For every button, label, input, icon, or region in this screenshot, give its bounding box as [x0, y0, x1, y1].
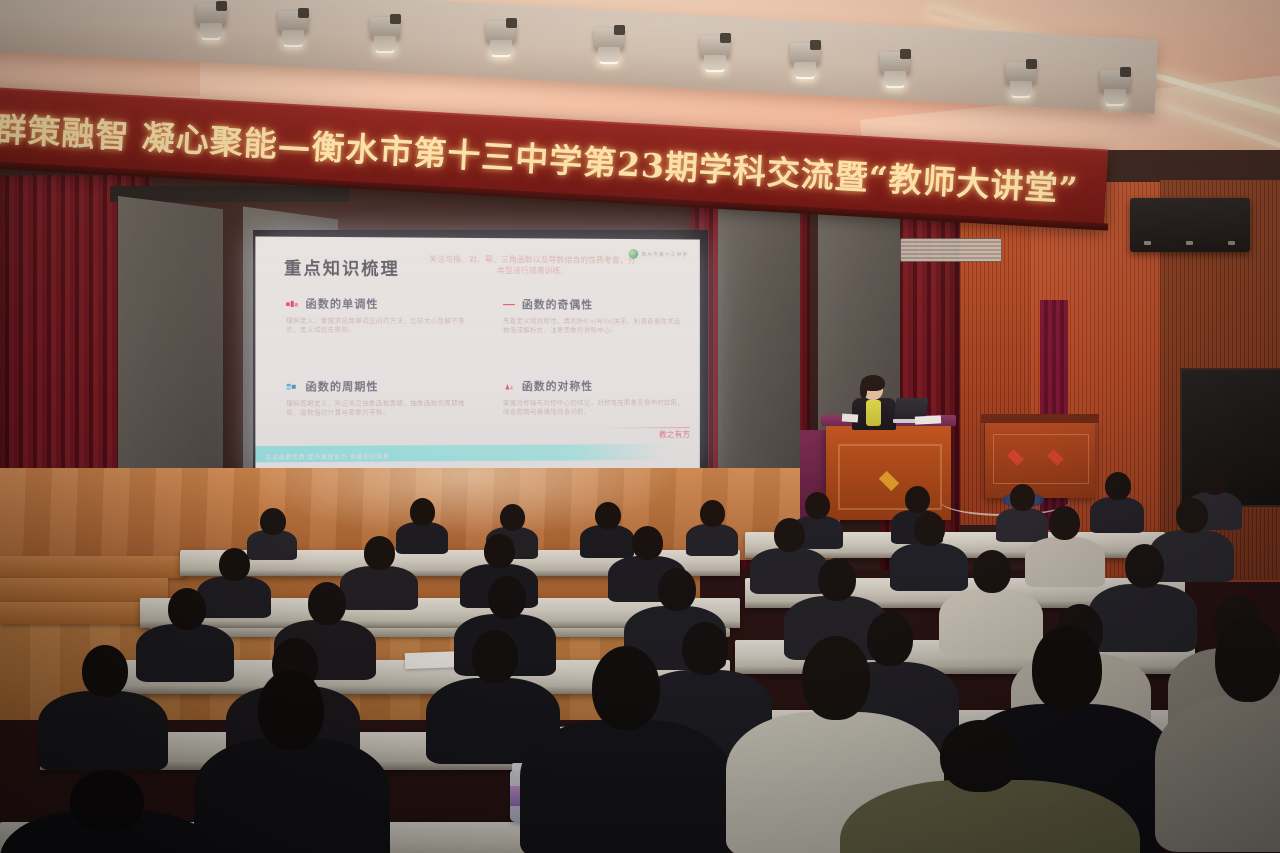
school-logo-text: 衡水市第十三中学	[641, 250, 688, 257]
audience-member-foreground	[1185, 616, 1280, 816]
lecture-hall-photo: 群策融智 凝心聚能—衡水市第十三中学第23期学科交流暨“教师大讲堂” 重点知识梳…	[0, 0, 1280, 853]
audience-member-foreground	[230, 670, 350, 840]
audience-member-foreground	[560, 646, 690, 830]
section-heading: 函数的单调性	[305, 295, 378, 311]
podium-papers	[915, 415, 941, 424]
audience-member	[1035, 506, 1093, 574]
monotonicity-bullet-icon	[286, 299, 299, 308]
section-heading: 函数的周期性	[305, 378, 378, 394]
audience-member	[690, 500, 734, 552]
presentation-slide: 重点知识梳理 关注与指、对、幂、三角函数以及导数结合的性质考查，分类型进行提高训…	[255, 236, 699, 474]
audience-member	[60, 645, 146, 755]
audience-member	[450, 630, 536, 744]
section-heading: 函数的奇偶性	[522, 296, 593, 312]
section-heading: 函数的对称性	[522, 378, 593, 394]
parity-bullet-icon	[503, 300, 516, 309]
stage-spotlight-icon	[594, 28, 624, 50]
audience-area	[0, 470, 1280, 853]
stage-spotlight-icon	[370, 17, 400, 39]
section-body: 理解周期定义，熟记常见抽象函数周期，抽象函数的周期推导、函数值的计算与图象的平移…	[286, 399, 473, 418]
audience-member	[1095, 472, 1139, 528]
periodicity-bullet-icon	[286, 382, 299, 391]
school-logo: 衡水市第十三中学	[628, 249, 688, 259]
stage-spotlight-icon	[700, 36, 730, 58]
slide-title: 重点知识梳理	[284, 254, 400, 280]
stage-spotlight-icon	[790, 43, 820, 65]
section-body: 先看定义域对称性，再判断f(-x)与f(x)关系，利用奇偶性求函数值或解析式，注…	[503, 317, 685, 335]
podium-papers	[842, 413, 859, 422]
stage-spotlight-icon	[278, 11, 308, 33]
symmetry-bullet-icon	[503, 381, 516, 390]
audience-member	[900, 512, 958, 580]
stage-spotlight-icon	[486, 21, 516, 43]
slide-footer-bar: 关注函数性质 提升解题能力 构建知识体系	[255, 444, 699, 463]
slide-subtitle: 关注与指、对、幂、三角函数以及导数结合的性质考查，分类型进行提高训练。	[428, 254, 636, 277]
slide-watermark: 教之有方	[659, 429, 690, 440]
section-body: 理解定义，掌握求函数单调区间的方法，比较大小及解不等式，定义域优先原则。	[286, 317, 473, 335]
slide-section-parity: 函数的奇偶性 先看定义域对称性，再判断f(-x)与f(x)关系，利用奇偶性求函数…	[503, 296, 685, 335]
stage-spotlight-icon	[880, 52, 910, 74]
stage-spotlight-icon	[1100, 70, 1130, 92]
audience-member-foreground	[30, 770, 180, 853]
slide-footer-text: 关注函数性质 提升解题能力 构建知识体系	[255, 455, 389, 462]
slide-section-monotonicity: 函数的单调性 理解定义，掌握求函数单调区间的方法，比较大小及解不等式，定义域优先…	[286, 295, 473, 335]
stage-spotlight-icon	[196, 4, 226, 26]
audience-member-foreground	[880, 720, 1080, 853]
projection-screen: 重点知识梳理 关注与指、对、幂、三角函数以及导数结合的性质考查，分类型进行提高训…	[255, 236, 699, 474]
school-logo-mark-icon	[628, 249, 638, 259]
audience-member	[150, 588, 220, 672]
presenter-figure	[852, 378, 896, 428]
section-body: 掌握对称轴与对称中心的结论，对称性在图象变换中的应用，结合周期与奇偶性综合问题。	[503, 398, 685, 416]
slide-section-symmetry: 函数的对称性 掌握对称轴与对称中心的结论，对称性在图象变换中的应用，结合周期与奇…	[503, 378, 685, 417]
slide-section-periodicity: 函数的周期性 理解周期定义，熟记常见抽象函数周期，抽象函数的周期推导、函数值的计…	[286, 378, 473, 418]
air-conditioner-vent	[900, 238, 1002, 262]
stage-spotlight-icon	[1006, 62, 1036, 84]
wall-speaker-icon	[1130, 198, 1250, 252]
